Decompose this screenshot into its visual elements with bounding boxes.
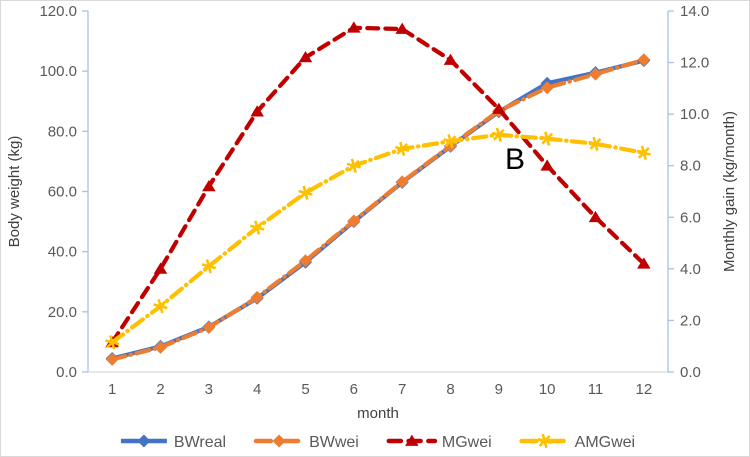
y2-axis-tick-label: 10.0 xyxy=(680,106,709,123)
data-point-marker xyxy=(137,435,150,448)
series-line xyxy=(112,60,644,360)
legend-label: AMGwei xyxy=(575,434,635,451)
x-axis-tick-label: 2 xyxy=(156,381,164,398)
y-axis-tick-label: 100.0 xyxy=(39,63,77,80)
axis-layer xyxy=(82,11,674,372)
x-axis-tick-label: 3 xyxy=(205,381,213,398)
series-layer xyxy=(105,21,650,365)
x-axis-title: month xyxy=(357,405,399,422)
chart-figure: 0.020.040.060.080.0100.0120.00.02.04.06.… xyxy=(0,0,750,457)
chart-canvas: 0.020.040.060.080.0100.0120.00.02.04.06.… xyxy=(1,1,750,457)
data-point-marker xyxy=(299,186,313,200)
data-point-marker xyxy=(250,221,264,235)
y2-axis-tick-label: 12.0 xyxy=(680,55,709,72)
legend-item-bwwei[interactable]: BWwei xyxy=(256,434,359,451)
y-axis-tick-label: 120.0 xyxy=(39,3,77,20)
series-amgwei xyxy=(105,128,650,349)
data-point-marker xyxy=(202,260,216,274)
x-axis-tick-label: 10 xyxy=(539,381,556,398)
y-axis-tick-label: 0.0 xyxy=(56,364,77,381)
y-axis-tick-label: 40.0 xyxy=(48,244,77,261)
data-point-marker xyxy=(444,54,458,65)
legend-item-amgwei[interactable]: AMGwei xyxy=(522,434,635,451)
x-axis-tick-label: 6 xyxy=(350,381,358,398)
series-mgwei xyxy=(105,21,650,347)
x-axis-tick-label: 4 xyxy=(253,381,261,398)
series-bwwei xyxy=(106,53,651,366)
y2-axis-tick-label: 4.0 xyxy=(680,261,701,278)
legend-layer: BWrealBWweiMGweiAMGwei xyxy=(121,434,635,451)
data-point-marker xyxy=(637,53,650,66)
y2-axis-tick-label: 6.0 xyxy=(680,209,701,226)
y2-axis-title: Monthly gain (kg/month) xyxy=(721,111,738,272)
y-axis-tick-label: 80.0 xyxy=(48,123,77,140)
x-axis-tick-label: 5 xyxy=(301,381,309,398)
x-axis-tick-label: 1 xyxy=(108,381,116,398)
legend-label: MGwei xyxy=(442,434,492,451)
x-axis-tick-label: 11 xyxy=(588,381,604,398)
series-line xyxy=(112,135,644,343)
legend-label: BWwei xyxy=(309,434,359,451)
y-axis-tick-label: 60.0 xyxy=(48,184,77,201)
y2-axis-tick-label: 2.0 xyxy=(680,312,701,329)
series-bwreal xyxy=(106,54,651,365)
y-axis-tick-label: 20.0 xyxy=(48,304,77,321)
series-line xyxy=(112,61,644,359)
legend-item-bwreal[interactable]: BWreal xyxy=(121,434,226,451)
legend-label: BWreal xyxy=(174,434,226,451)
series-line xyxy=(112,28,644,343)
y-axis-title: Body weight (kg) xyxy=(6,136,23,248)
x-axis-tick-label: 9 xyxy=(495,381,503,398)
y2-axis-tick-label: 8.0 xyxy=(680,158,701,175)
data-point-marker xyxy=(106,353,119,366)
y2-axis-tick-label: 0.0 xyxy=(680,364,701,381)
data-point-marker xyxy=(273,435,286,448)
legend-item-mgwei[interactable]: MGwei xyxy=(389,434,492,451)
x-axis-tick-label: 8 xyxy=(446,381,454,398)
data-point-marker xyxy=(154,299,168,313)
x-axis-tick-label: 7 xyxy=(398,381,406,398)
y2-axis-tick-label: 14.0 xyxy=(680,3,709,20)
panel-label: B xyxy=(505,143,525,176)
x-axis-tick-label: 12 xyxy=(635,381,652,398)
